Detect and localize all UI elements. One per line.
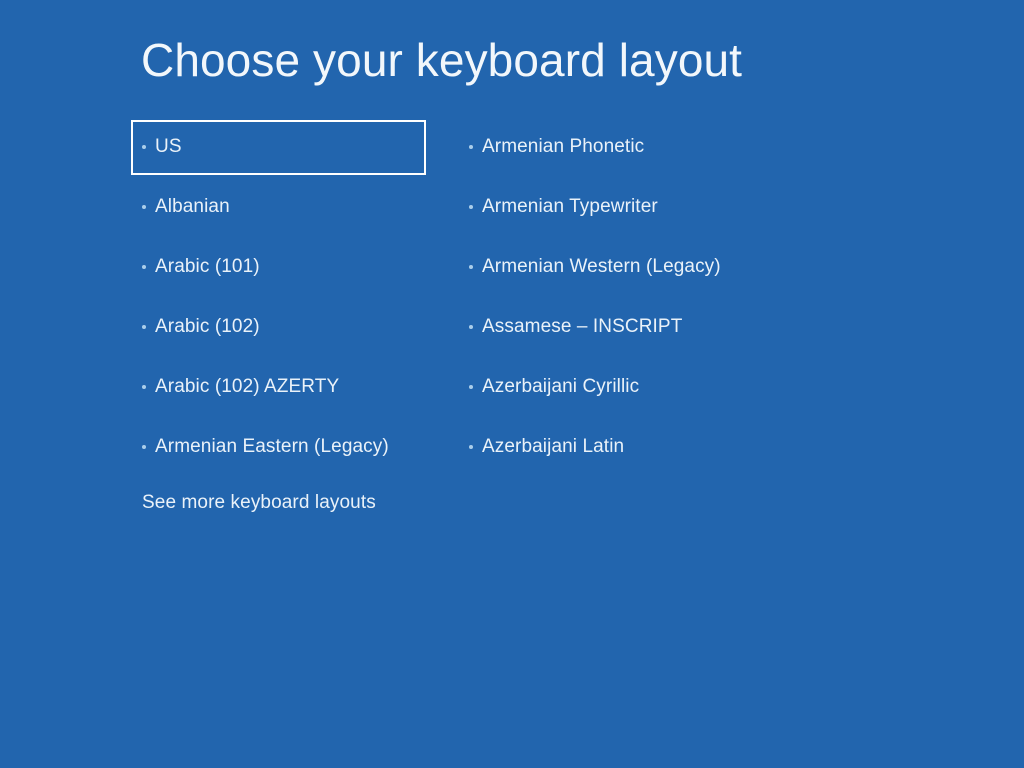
layout-option-label: Armenian Western (Legacy) [482,256,721,278]
layout-option-arabic-101[interactable]: Arabic (101) [131,240,431,300]
bullet-icon [142,445,146,449]
layout-option-label: Albanian [155,196,230,218]
layout-option-us[interactable]: US [131,120,431,180]
bullet-icon [469,445,473,449]
bullet-icon [142,385,146,389]
bullet-icon [142,265,146,269]
bullet-icon [142,205,146,209]
layout-option-armenian-western-legacy[interactable]: Armenian Western (Legacy) [462,240,792,300]
layout-option-armenian-phonetic[interactable]: Armenian Phonetic [462,120,792,180]
see-more-keyboard-layouts-link[interactable]: See more keyboard layouts [142,492,376,514]
layout-option-label: Arabic (102) AZERTY [155,376,339,398]
bullet-icon [142,145,146,149]
layout-option-label: US [155,136,182,158]
layout-option-label: Azerbaijani Cyrillic [482,376,639,398]
layout-option-albanian[interactable]: Albanian [131,180,431,240]
layout-option-azerbaijani-cyrillic[interactable]: Azerbaijani Cyrillic [462,360,792,420]
layout-list-right-column: Armenian Phonetic Armenian Typewriter Ar… [462,120,792,480]
layout-option-azerbaijani-latin[interactable]: Azerbaijani Latin [462,420,792,480]
layout-option-armenian-eastern-legacy[interactable]: Armenian Eastern (Legacy) [131,420,431,480]
layout-list-left-column: US Albanian Arabic (101) Arabic (102) [131,120,431,480]
page-title: Choose your keyboard layout [141,34,742,87]
layout-option-arabic-102-azerty[interactable]: Arabic (102) AZERTY [131,360,431,420]
layout-option-label: Arabic (101) [155,256,260,278]
layout-option-arabic-102[interactable]: Arabic (102) [131,300,431,360]
layout-option-label: Armenian Phonetic [482,136,644,158]
bullet-icon [469,325,473,329]
layout-option-assamese-inscript[interactable]: Assamese – INSCRIPT [462,300,792,360]
bullet-icon [469,265,473,269]
layout-option-label: Assamese – INSCRIPT [482,316,682,338]
layout-option-label: Armenian Typewriter [482,196,658,218]
bullet-icon [469,145,473,149]
layout-option-label: Arabic (102) [155,316,260,338]
layout-option-label: Azerbaijani Latin [482,436,624,458]
layout-option-armenian-typewriter[interactable]: Armenian Typewriter [462,180,792,240]
bullet-icon [469,205,473,209]
bullet-icon [469,385,473,389]
layout-option-label: Armenian Eastern (Legacy) [155,436,389,458]
keyboard-layout-screen: Choose your keyboard layout US Albanian … [0,0,1024,768]
bullet-icon [142,325,146,329]
